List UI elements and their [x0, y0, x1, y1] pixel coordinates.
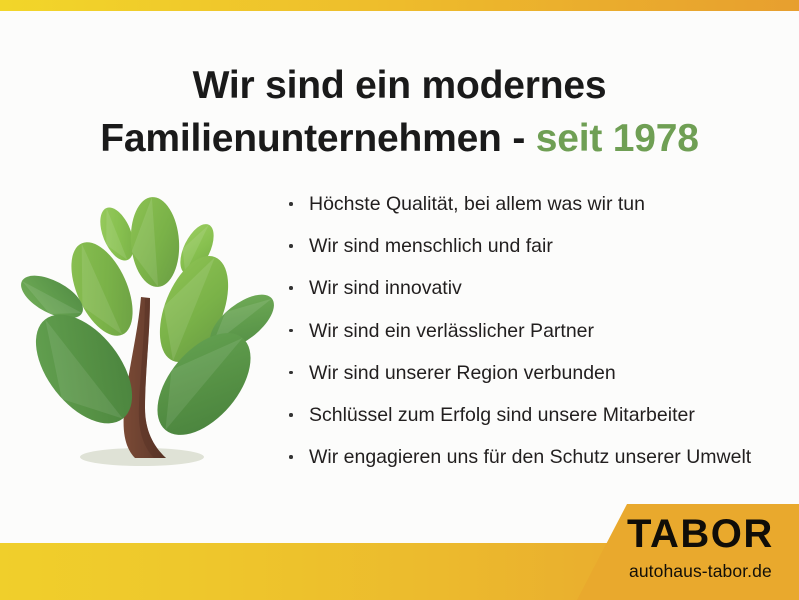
list-item: Schlüssel zum Erfolg sind unsere Mitarbe…: [283, 403, 788, 427]
tree-illustration: [14, 184, 276, 484]
list-item: Wir engagieren uns für den Schutz unsere…: [283, 445, 788, 469]
list-item: Höchste Qualität, bei allem was wir tun: [283, 192, 788, 216]
list-item: Wir sind menschlich und fair: [283, 234, 788, 258]
value-proposition-list: Höchste Qualität, bei allem was wir tun …: [283, 192, 788, 487]
headline-line-2-prefix: Familienunternehmen -: [100, 117, 536, 160]
brand-website-url: autohaus-tabor.de: [629, 561, 772, 581]
headline-line-2: Familienunternehmen - seit 1978: [0, 112, 799, 165]
page-title: Wir sind ein modernes Familienunternehme…: [0, 59, 799, 165]
top-accent-bar: [0, 0, 799, 11]
headline-accent-year: seit 1978: [536, 117, 699, 160]
list-item: Wir sind ein verlässlicher Partner: [283, 319, 788, 343]
leaf-center-top: [128, 195, 182, 288]
list-item: Wir sind innovativ: [283, 276, 788, 300]
slide-canvas: Wir sind ein modernes Familienunternehme…: [0, 0, 799, 600]
headline-line-1: Wir sind ein modernes: [0, 59, 799, 112]
brand-wordmark: TABOR: [627, 513, 774, 555]
list-item: Wir sind unserer Region verbunden: [283, 361, 788, 385]
